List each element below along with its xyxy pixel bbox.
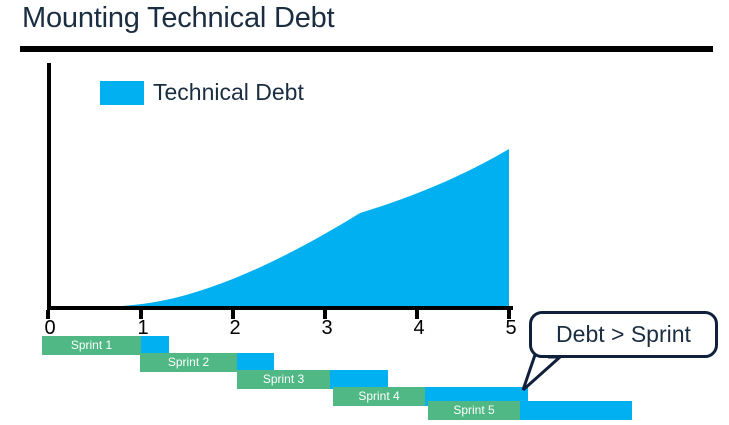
callout-tail-icon	[0, 0, 729, 425]
callout-label: Debt > Sprint	[532, 314, 715, 355]
slide-canvas: Mounting Technical Debt 012345 Technical…	[0, 0, 729, 425]
callout-bubble: Debt > Sprint	[529, 311, 718, 358]
